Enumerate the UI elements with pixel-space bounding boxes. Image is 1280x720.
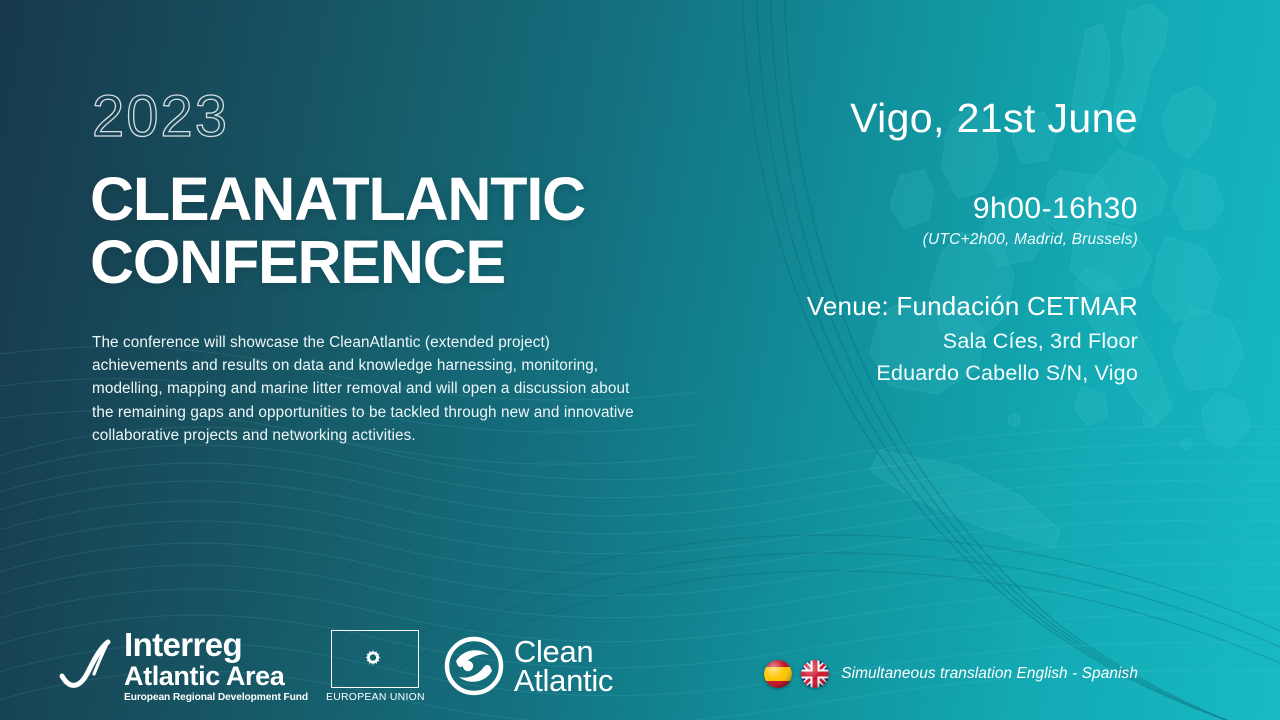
cleanatlantic-word-atlantic: Atlantic (514, 665, 613, 696)
translation-text: Simultaneous translation English - Spani… (841, 665, 1138, 683)
eu-flag-icon (331, 630, 419, 688)
venue-name: Venue: Fundación CETMAR (618, 291, 1138, 322)
event-details-block: Vigo, 21st June 9h00-16h30 (UTC+2h00, Ma… (618, 96, 1138, 386)
conference-slide: 2023 CLEANATLANTIC CONFERENCE The confer… (0, 0, 1280, 720)
title-line-1: CLEANATLANTIC (90, 168, 650, 231)
interreg-fund-caption: European Regional Development Fund (124, 693, 308, 703)
venue-address: Eduardo Cabello S/N, Vigo (618, 361, 1138, 386)
spain-flag-icon (764, 660, 792, 688)
translation-note: Simultaneous translation English - Spani… (764, 660, 1138, 688)
european-union-logo: EUROPEAN UNION (326, 630, 425, 703)
event-timezone: (UTC+2h00, Madrid, Brussels) (618, 231, 1138, 249)
cleanatlantic-globe-icon (443, 635, 505, 697)
page-title: CLEANATLANTIC CONFERENCE (90, 168, 650, 295)
venue-room: Sala Cíes, 3rd Floor (618, 329, 1138, 354)
venue-block: Venue: Fundación CETMAR Sala Cíes, 3rd F… (618, 291, 1138, 386)
title-block: 2023 CLEANATLANTIC CONFERENCE The confer… (90, 88, 650, 447)
title-line-2: CONFERENCE (90, 231, 650, 294)
interreg-swoosh-icon (58, 636, 116, 696)
year-label: 2023 (92, 88, 650, 146)
interreg-region: Atlantic Area (124, 663, 308, 690)
uk-flag-icon (801, 660, 829, 688)
logo-bar: Interreg Atlantic Area European Regional… (58, 624, 613, 708)
eu-caption: EUROPEAN UNION (326, 692, 425, 703)
interreg-atlantic-area-logo: Interreg Atlantic Area European Regional… (58, 628, 308, 703)
event-time: 9h00-16h30 (618, 192, 1138, 226)
interreg-name: Interreg (124, 628, 308, 661)
cleanatlantic-logo: Clean Atlantic (443, 635, 613, 697)
city-date: Vigo, 21st June (618, 96, 1138, 141)
conference-description: The conference will showcase the CleanAt… (92, 331, 640, 447)
